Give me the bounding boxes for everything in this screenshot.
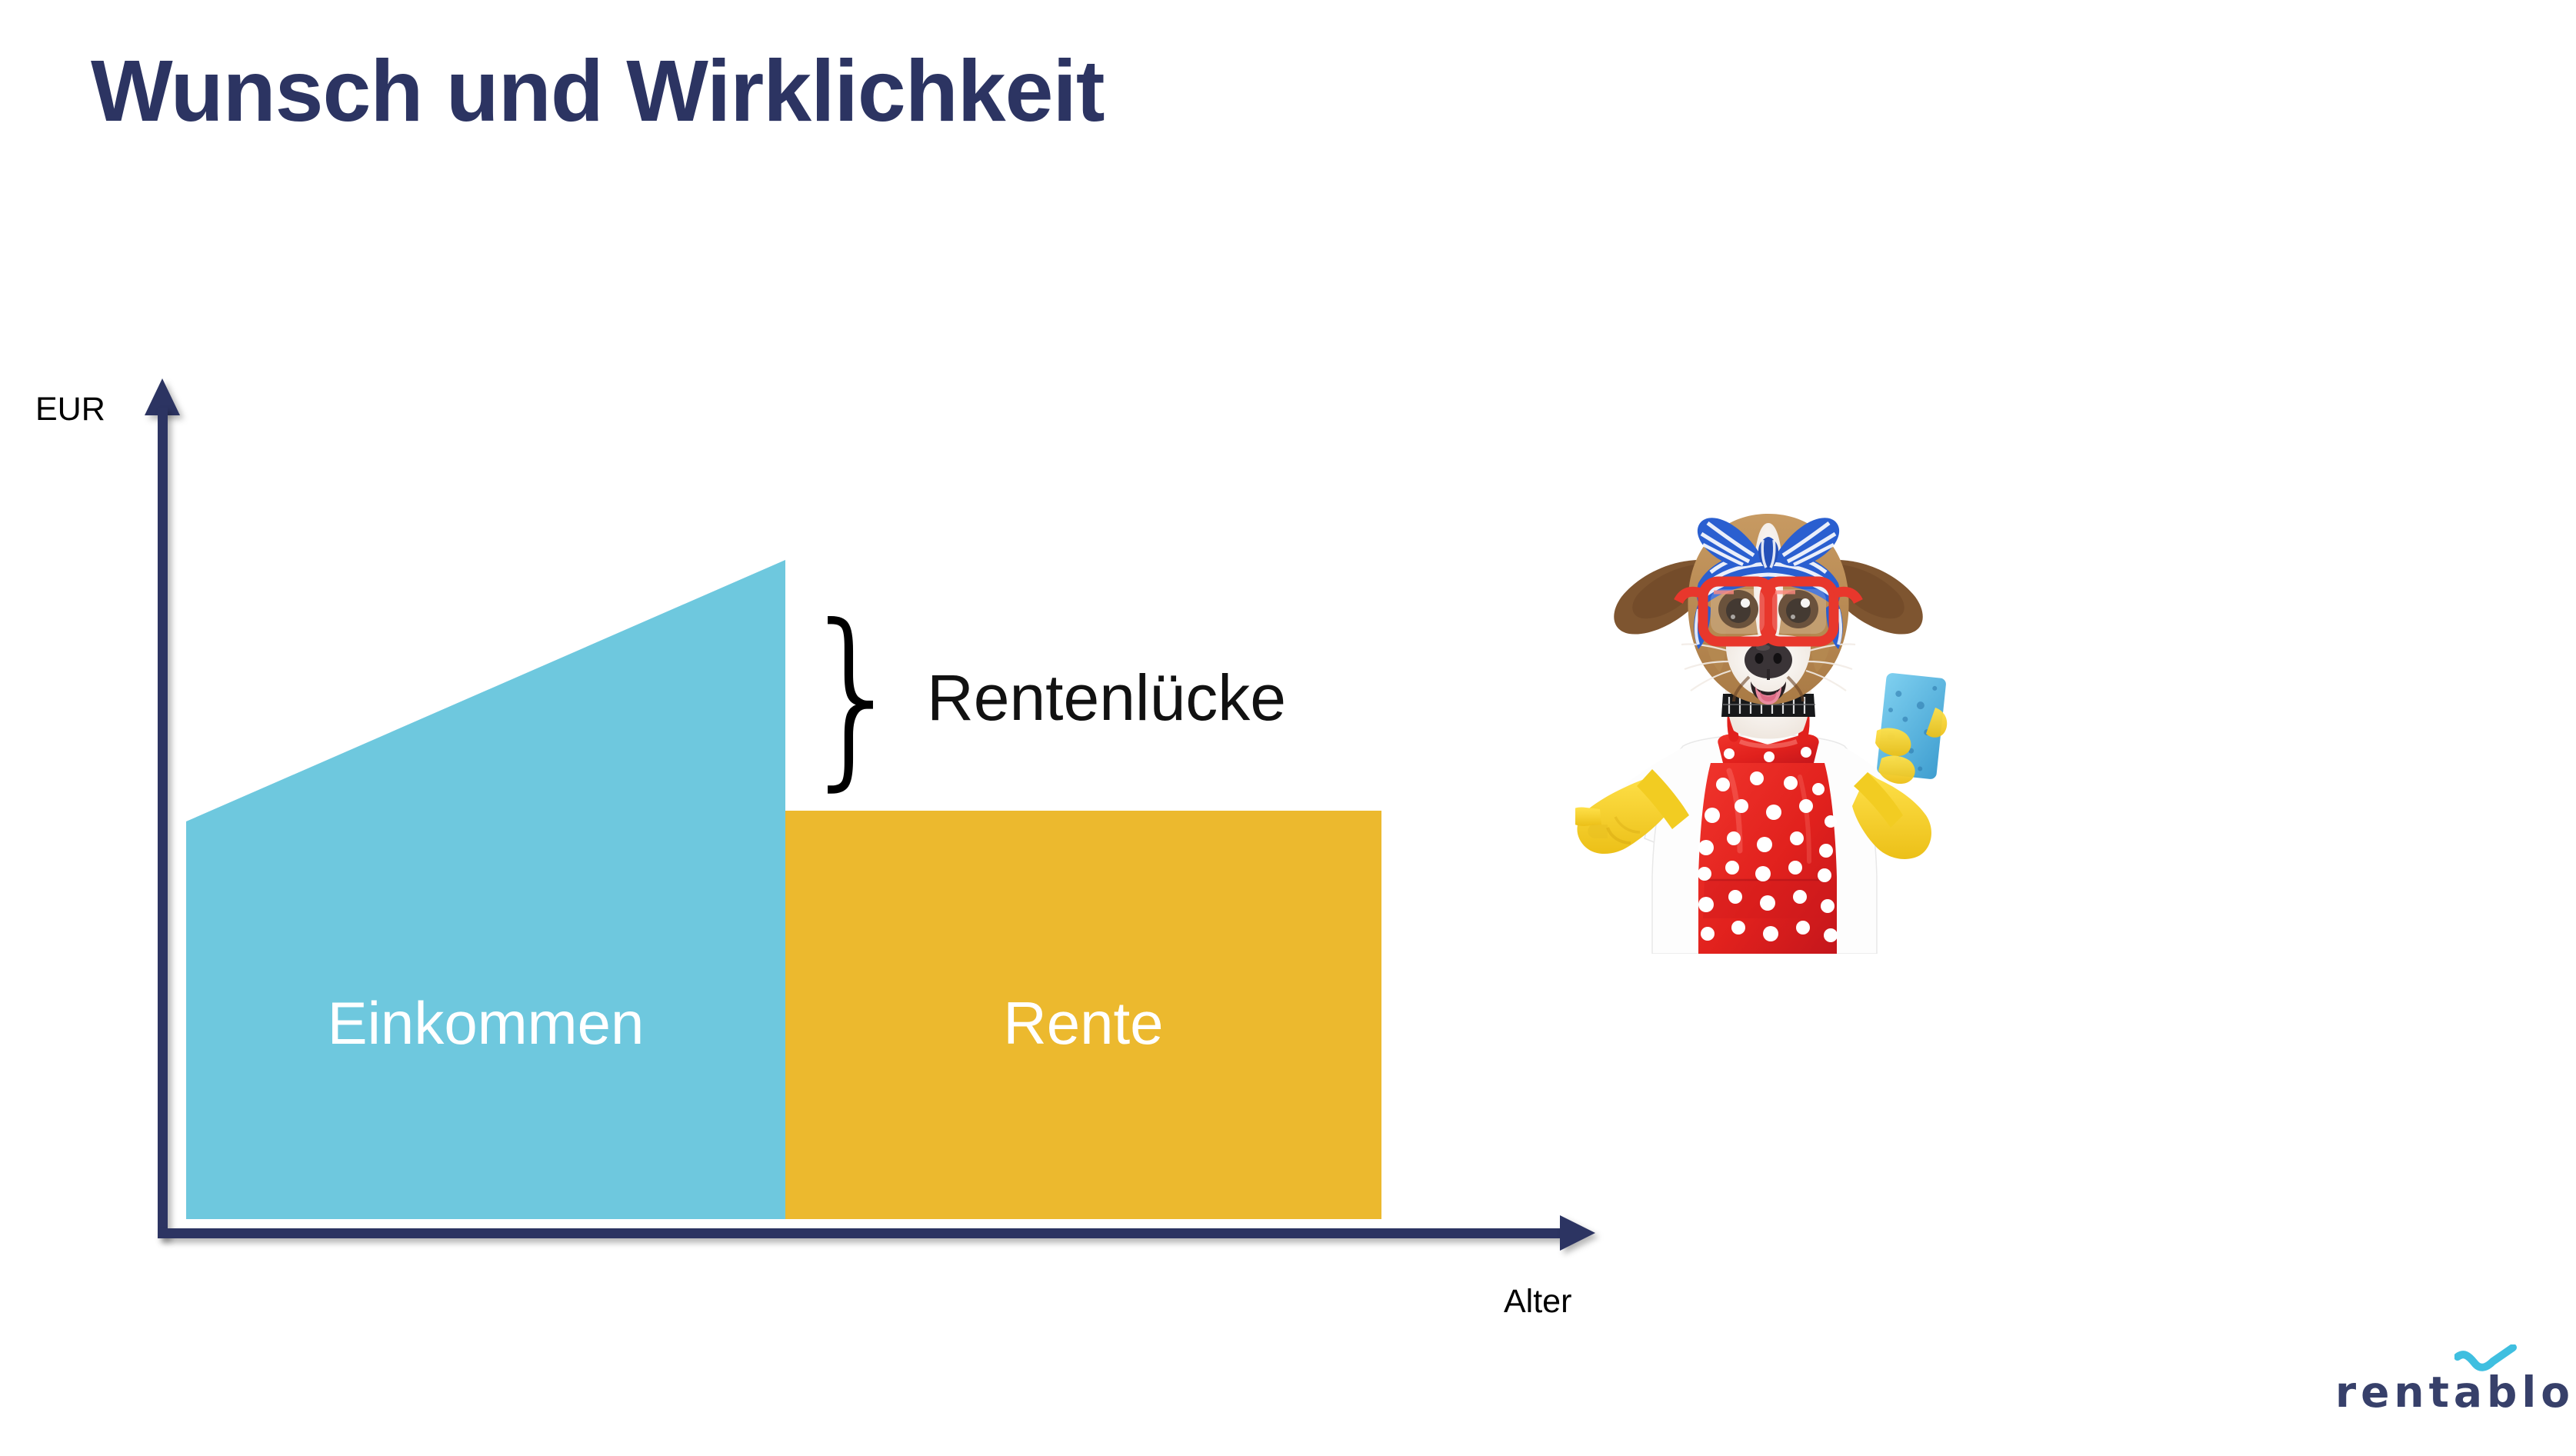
rentablo-logo[interactable]: rentablo xyxy=(2335,1351,2528,1420)
y-axis-line xyxy=(158,408,168,1238)
curly-brace-icon: } xyxy=(798,608,908,785)
pension-series-label: Rente xyxy=(785,988,1381,1058)
dog-cleaner-illustration xyxy=(1575,477,1960,954)
x-axis-arrow-icon xyxy=(1560,1215,1595,1251)
income-area-slope xyxy=(186,560,785,821)
chart-canvas: EUR Alter Einkommen Rente } Rentenlücke xyxy=(0,0,2576,1456)
x-axis-label: Alter xyxy=(1504,1283,1571,1321)
pension-gap-annotation: } Rentenlücke xyxy=(792,608,1286,785)
x-axis-line xyxy=(158,1228,1569,1238)
income-series-label: Einkommen xyxy=(186,988,785,1058)
pension-gap-label: Rentenlücke xyxy=(927,661,1286,735)
y-axis-label: EUR xyxy=(35,391,105,428)
checkmark-swoosh-icon xyxy=(2454,1344,2518,1377)
